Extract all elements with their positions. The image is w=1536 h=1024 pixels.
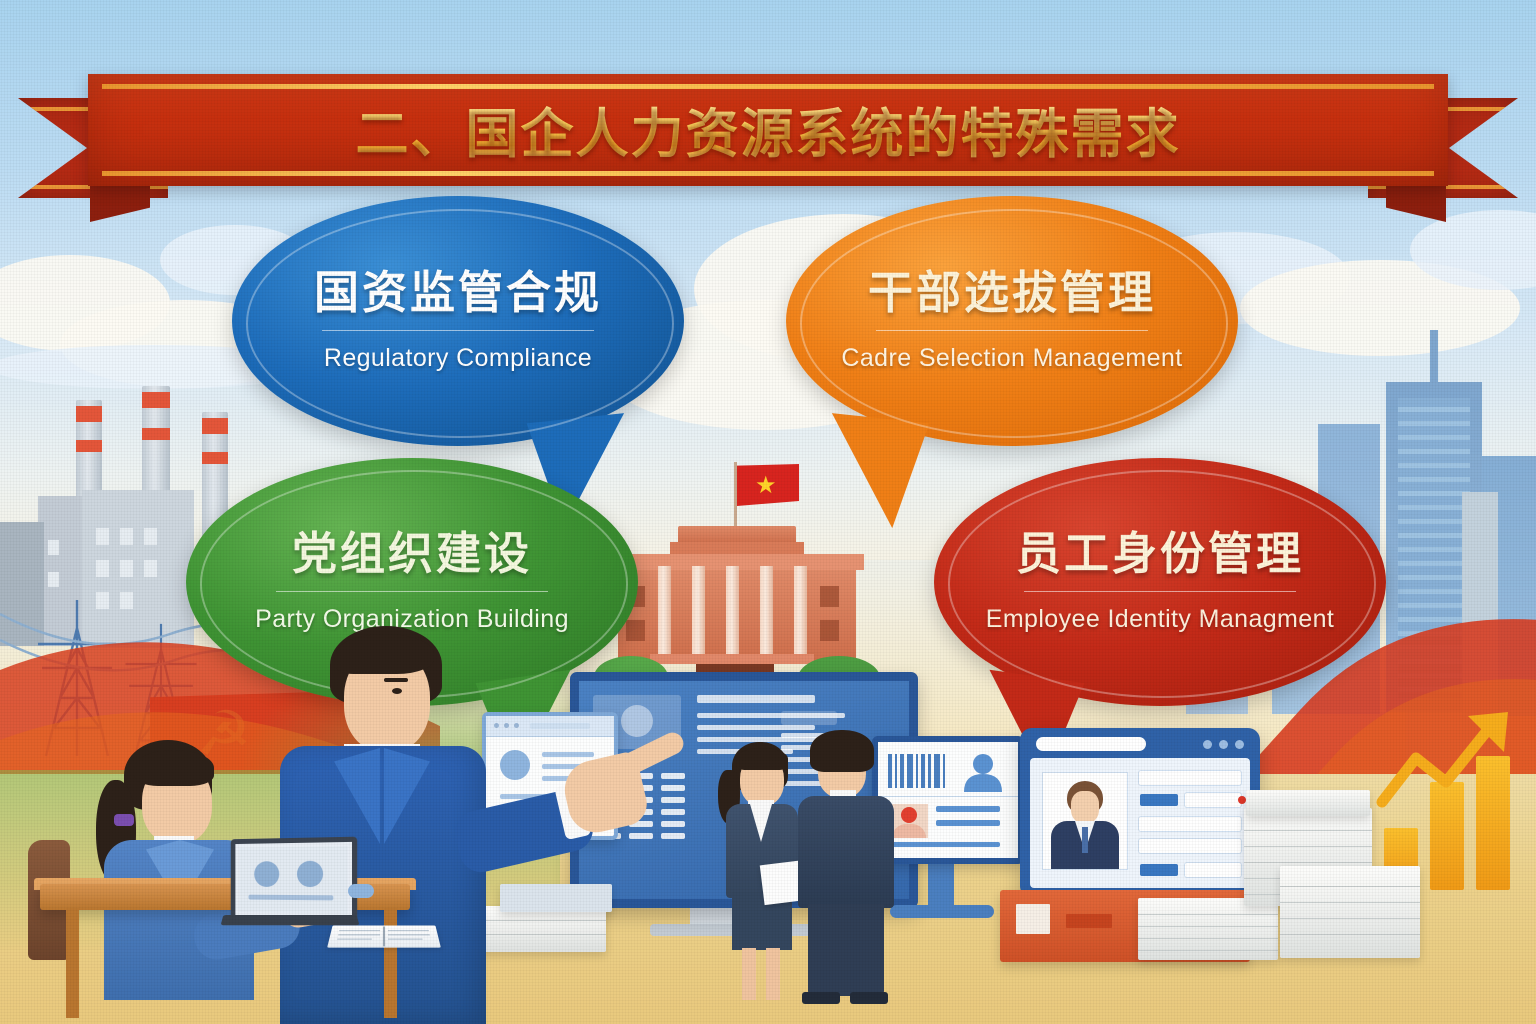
- avatar: [962, 752, 1004, 792]
- table-cell: [661, 773, 685, 779]
- text-line: [697, 695, 815, 703]
- factory-window-icon: [48, 540, 59, 555]
- bubble-regulatory-compliance[interactable]: 国资监管合规 Regulatory Compliance: [232, 196, 684, 446]
- desk-leg: [66, 908, 79, 1018]
- tablet-titlebar: [1036, 737, 1146, 751]
- text-line: [936, 820, 1000, 826]
- bubble-ring: [948, 470, 1377, 697]
- bubble-ring: [246, 209, 675, 438]
- table-cell: [661, 797, 685, 803]
- eye: [392, 688, 402, 694]
- page-title: 二、国企人力资源系统的特殊需求: [88, 92, 1448, 168]
- field-label: [1140, 864, 1178, 876]
- factory-window-icon: [120, 560, 133, 577]
- trousers: [808, 904, 884, 996]
- factory-window-icon: [144, 528, 157, 545]
- bubble-title-cn: 国资监管合规: [314, 270, 602, 315]
- bubble-title-en: Cadre Selection Management: [841, 344, 1182, 373]
- bubble-title-en: Employee Identity Managment: [986, 605, 1334, 634]
- factory-window-icon: [48, 572, 59, 587]
- poster-canvas: ☭ ★: [0, 0, 1536, 1024]
- open-book-icon: [327, 925, 441, 947]
- mouse-icon[interactable]: [348, 884, 374, 898]
- employee-photo: [1042, 772, 1128, 870]
- text-line: [249, 895, 334, 901]
- side-panel: [781, 711, 837, 725]
- paper-stack-icon: [1138, 898, 1278, 960]
- leg: [742, 948, 756, 1000]
- paper-stack-icon: [1246, 790, 1370, 816]
- bubble-divider: [1024, 591, 1295, 592]
- avatar: [621, 705, 653, 737]
- table-cell: [661, 821, 685, 827]
- man-pointing: [260, 626, 590, 1024]
- text-line: [890, 842, 1000, 847]
- hair: [810, 730, 874, 772]
- suit-jacket: [798, 796, 894, 908]
- hair-fringe: [736, 748, 788, 770]
- bubble-title-en: Regulatory Compliance: [324, 344, 592, 373]
- shoe: [850, 992, 888, 1004]
- bubble-cadre-selection[interactable]: 干部选拔管理 Cadre Selection Management: [786, 196, 1238, 446]
- avatar: [254, 861, 279, 887]
- shoe: [802, 992, 840, 1004]
- laptop-icon[interactable]: [231, 837, 358, 924]
- screen-base: [890, 905, 994, 918]
- bubble-divider: [876, 330, 1147, 331]
- form-field[interactable]: [1184, 862, 1242, 878]
- table-cell: [661, 833, 685, 839]
- eyebrow: [384, 678, 408, 682]
- bubble-divider: [322, 330, 593, 331]
- avatar: [297, 861, 323, 887]
- table-cell: [661, 785, 685, 791]
- bubble-title-cn: 干部选拔管理: [868, 270, 1156, 315]
- status-dot: [1238, 796, 1246, 804]
- tablet-icon[interactable]: [1020, 728, 1260, 898]
- bubble-title-cn: 党组织建设: [292, 531, 532, 576]
- laptop-base: [221, 915, 360, 925]
- form-field[interactable]: [1138, 838, 1242, 854]
- banner-plate: 二、国企人力资源系统的特殊需求: [88, 74, 1448, 186]
- man-listening: [792, 728, 902, 968]
- bubble-title-cn: 员工身份管理: [1016, 531, 1304, 576]
- form-field[interactable]: [1138, 816, 1242, 832]
- form-field[interactable]: [1138, 770, 1242, 786]
- factory-window-icon: [120, 528, 133, 545]
- leg: [766, 948, 780, 1000]
- bubble-ring: [800, 209, 1229, 438]
- banner: 二、国企人力资源系统的特殊需求: [0, 36, 1536, 201]
- table-cell: [661, 809, 685, 815]
- text-line: [936, 806, 1000, 812]
- hair-tie: [114, 814, 134, 826]
- paper-stack-icon: [1280, 866, 1420, 958]
- file-handle: [1066, 914, 1112, 928]
- upward-arrow-icon: [1376, 706, 1532, 816]
- hair-fringe: [336, 634, 434, 674]
- file-label: [1016, 904, 1050, 934]
- form-field[interactable]: [1184, 792, 1242, 808]
- laptop-screen-content: [239, 846, 348, 914]
- bubble-employee-identity[interactable]: 员工身份管理 Employee Identity Managment: [934, 458, 1386, 706]
- factory-window-icon: [96, 528, 109, 545]
- factory-window-icon: [96, 560, 109, 577]
- bubble-divider: [276, 591, 547, 592]
- hair-fringe: [134, 750, 214, 786]
- employee-record-screen: [1030, 758, 1250, 888]
- bubble-tail: [821, 413, 930, 531]
- table-cell: [629, 833, 653, 839]
- growth-chart-icon: [1368, 700, 1528, 890]
- factory-window-icon: [144, 560, 157, 577]
- window-dots: [1203, 740, 1244, 749]
- field-label: [1140, 794, 1178, 806]
- flag-star-icon: ★: [755, 474, 777, 498]
